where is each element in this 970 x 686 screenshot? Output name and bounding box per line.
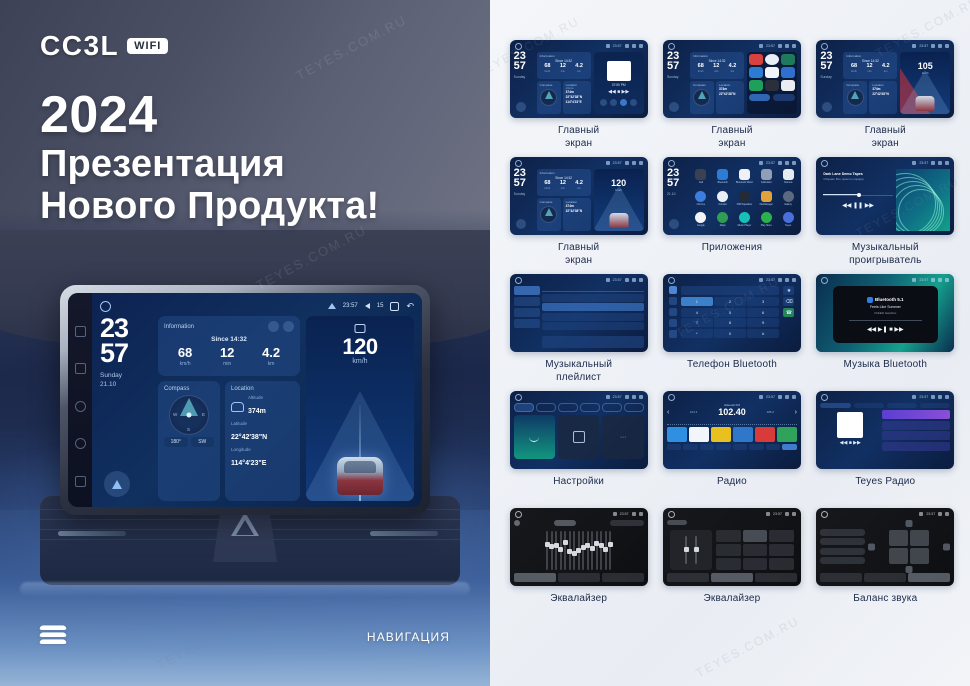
thumb-bluetooth-music[interactable]: 23:57 Bluetooth 5.1 Feels Like Summer Ch… (816, 274, 954, 352)
app-bluetooth[interactable]: Bluetooth (714, 169, 732, 188)
side-button-volume-icon[interactable] (75, 363, 86, 374)
latitude-label: Latitude (231, 421, 294, 426)
clock-widget: 23 57 Sunday 21.10 (100, 316, 152, 501)
dock-button-2[interactable] (773, 94, 795, 101)
eq-profile-icon[interactable] (514, 520, 520, 526)
back-button[interactable] (669, 219, 679, 229)
settings-tile-wifi[interactable] (514, 415, 555, 459)
dialpad-icon[interactable] (669, 286, 677, 294)
eq-preset[interactable] (769, 558, 794, 570)
bt-track-title: Feels Like Summer (870, 305, 901, 309)
playlist-category-albums[interactable] (514, 297, 540, 306)
player-artist: Сборник. Все треки по порядку (823, 177, 892, 181)
radio-tool-search[interactable] (683, 444, 698, 450)
app-contact[interactable]: Contact (714, 191, 732, 210)
thumb-home-screen-speed[interactable]: 23:57 23 57 Sunday Information (510, 157, 648, 235)
eq-band[interactable] (578, 531, 580, 570)
key-1[interactable]: 1 (681, 297, 713, 306)
playlist-track-list[interactable] (542, 286, 644, 348)
gallery-cell[interactable]: 23:57 (504, 391, 653, 502)
radio-frequency: 102.40 (718, 407, 746, 418)
gallery-cell[interactable]: 23:57 (504, 508, 653, 619)
app-chrome[interactable]: Chrome (692, 191, 710, 210)
eq-band[interactable] (546, 531, 548, 570)
dock-button-1[interactable] (749, 94, 771, 101)
gallery-caption: Эквалайзер (704, 593, 761, 619)
thumb-clock-day: Sunday (514, 75, 534, 80)
car-graphic (609, 213, 628, 228)
clock-date: 21.10 (100, 380, 152, 390)
radio-tool-settings[interactable] (766, 444, 781, 450)
eq-slider-bass[interactable] (685, 536, 687, 565)
balance-preset-rear[interactable] (820, 548, 864, 555)
stat-distance: 4.2 km (262, 346, 280, 367)
eq-band[interactable] (600, 531, 602, 570)
settings-tile-more[interactable]: ⋯ (602, 415, 643, 459)
app-icon-playstore[interactable] (749, 80, 763, 91)
bt-version-label: Bluetooth 5.1 (867, 297, 904, 303)
navigation-fab-button[interactable] (516, 219, 526, 229)
navigation-arrow-icon (112, 480, 122, 489)
music-controls[interactable]: ◀◀ ■ ▶▶ (608, 89, 629, 95)
music-actions[interactable] (600, 99, 637, 106)
teyes-station-row[interactable] (882, 431, 950, 440)
side-button-back-icon[interactable] (75, 476, 86, 487)
app-call[interactable]: Call (692, 169, 710, 188)
eq-tab-effects[interactable] (864, 573, 906, 582)
phone-number-display (681, 286, 779, 295)
screenshot-icon[interactable] (390, 302, 399, 311)
eq-band[interactable] (560, 531, 562, 570)
bt-transport-controls[interactable]: ◀◀ ▶❚ ■ ▶▶ (867, 326, 904, 333)
speed-value: 120 (594, 178, 644, 188)
home-icon (668, 277, 675, 284)
playlist-category-tracks[interactable] (514, 286, 540, 295)
radio-preset-3[interactable] (711, 427, 731, 442)
eq-preset[interactable] (743, 544, 768, 556)
eq-tab-eq[interactable] (514, 573, 556, 582)
speed-unit: km/h (900, 71, 950, 75)
screenshot-gallery-panel: TEYES.COM.RU TEYES.COM.RU TEYES.COM.RU T… (490, 0, 970, 686)
gallery-cell[interactable]: 23:57 23 57 21.10 Call Bluetooth Bluetoo… (657, 157, 806, 268)
location-card[interactable]: Location Altitude 374m (225, 381, 300, 501)
radio-preset-2[interactable] (689, 427, 709, 442)
head-unit-bezel: 23:57 15 ↶ 23 57 Sunday (60, 285, 430, 515)
eq-band[interactable] (555, 531, 557, 570)
key-hash[interactable]: # (747, 329, 779, 338)
speed-unit: km/h (594, 188, 644, 192)
presentation-slide: TEYES.COM.RU TEYES.COM.RU TEYES.COM.RU C… (0, 0, 970, 686)
thumb-bluetooth-phone[interactable]: 23:57 (663, 274, 801, 352)
album-art (837, 412, 863, 438)
more-icon: ⋯ (620, 434, 626, 441)
head-unit-side-buttons[interactable] (68, 293, 92, 507)
key-9[interactable]: 9 (747, 318, 779, 327)
key-4[interactable]: 4 (681, 308, 713, 317)
eq-preset[interactable] (769, 544, 794, 556)
information-since: Since 14:32 (164, 336, 294, 343)
settings-tabs[interactable] (514, 403, 644, 412)
brand-wifi-badge: WIFI (127, 38, 168, 54)
eq-band[interactable] (573, 531, 575, 570)
side-button-power-icon[interactable] (75, 401, 86, 412)
settings-tab-about[interactable] (624, 403, 644, 412)
eq-tab-more[interactable] (755, 573, 797, 582)
radio-preset-1[interactable] (667, 427, 687, 442)
playlist-row[interactable] (542, 322, 644, 330)
thumb-teyes-radio[interactable]: 23:57 ◀◀ ■ ▶▶ (816, 391, 954, 469)
contacts-icon[interactable] (669, 319, 677, 327)
radio-tool-loc[interactable] (749, 444, 764, 450)
app-google[interactable]: Google (692, 212, 710, 231)
headline-line2: Нового Продукта! (40, 185, 379, 228)
app-music-player[interactable]: Music Player (736, 212, 754, 231)
key-8[interactable]: 8 (714, 318, 746, 327)
key-0[interactable]: 0 (714, 329, 746, 338)
volume-icon (365, 303, 370, 309)
radio-preset-5[interactable] (755, 427, 775, 442)
eq-tab-eq[interactable] (820, 573, 862, 582)
app-camera[interactable]: Camera (779, 169, 797, 188)
compass-card-title: Compass (164, 386, 214, 392)
home-icon (515, 394, 522, 401)
information-card[interactable]: Information Since 14:32 68 (158, 316, 300, 376)
head-unit-home-screen: 23:57 15 ↶ 23 57 Sunday (92, 293, 422, 507)
gallery-cell[interactable]: 23:57 23 57 Sunday Information (504, 157, 653, 268)
gallery-caption: Приложения (702, 242, 763, 268)
playlist-now-playing-bar[interactable] (542, 336, 644, 348)
info-reset-icon[interactable] (283, 321, 294, 332)
teyes-station-row[interactable] (882, 410, 950, 419)
favorite-icon[interactable]: ★ (783, 286, 794, 295)
call-icon[interactable]: ☎ (783, 308, 794, 317)
longitude-value: 114°4'23"E (231, 460, 266, 467)
eq-band[interactable] (569, 531, 571, 570)
eq-band[interactable] (596, 531, 598, 570)
gallery-cell[interactable]: 23:57 Dark Lane Demo Tapes Сборник. Все … (811, 157, 960, 268)
home-icon (668, 160, 675, 167)
thumb-music-player[interactable]: 23:57 Dark Lane Demo Tapes Сборник. Все … (816, 157, 954, 235)
compass-heading: 180° (164, 437, 188, 447)
gallery-cell[interactable]: 23:57 (657, 508, 806, 619)
playlist-row[interactable] (542, 313, 644, 321)
eq-preset-selector[interactable] (554, 520, 576, 526)
gallery-cell[interactable]: 23:57 (811, 508, 960, 619)
radio-presets[interactable] (667, 427, 797, 442)
eq-tab-eq[interactable] (667, 573, 709, 582)
dashboard-trim (20, 582, 470, 596)
compass-center-dot (187, 413, 192, 418)
settings-tab-sound[interactable] (536, 403, 556, 412)
app-shortcut-panel[interactable] (747, 52, 797, 114)
settings-tile-traffic[interactable] (558, 415, 599, 459)
playlist-category-artists[interactable] (514, 308, 540, 317)
radio-tuning-scale[interactable] (667, 419, 797, 425)
app-icon-bluetooth[interactable] (749, 67, 763, 78)
teyes-station-row[interactable] (882, 442, 950, 451)
navigation-label: НАВИГАЦИЯ (367, 630, 450, 644)
speed-unit: km/h (306, 358, 414, 365)
bt-music-card: Bluetooth 5.1 Feels Like Summer Childish… (833, 286, 938, 342)
gallery-cell[interactable]: 23:57 Bluetooth 5.1 Feels Like Summer Ch… (811, 274, 960, 385)
gallery-caption: Главныйэкран (865, 125, 906, 151)
app-icon-contact[interactable] (765, 54, 779, 65)
eq-band[interactable] (551, 531, 553, 570)
home-icon (668, 43, 675, 50)
settings-tab-apps[interactable] (580, 403, 600, 412)
settings-icon[interactable] (669, 330, 677, 338)
wifi-icon (529, 433, 539, 442)
key-7[interactable]: 7 (681, 318, 713, 327)
gallery-cell[interactable]: 23:57 23 57 Sunday Information (657, 40, 806, 151)
key-5[interactable]: 5 (714, 308, 746, 317)
settings-tiles[interactable]: ⋯ (514, 415, 644, 459)
radio-tool-rds[interactable] (733, 444, 748, 450)
side-button-home-icon[interactable] (75, 438, 86, 449)
thumb-settings[interactable]: 23:57 (510, 391, 648, 469)
teyes-station-list[interactable] (882, 410, 950, 469)
radio-next-button[interactable]: › (795, 409, 797, 416)
eq-band[interactable] (609, 531, 611, 570)
home-icon (821, 394, 828, 401)
home-icon (821, 277, 828, 284)
compass-needle-icon (545, 91, 553, 99)
radio-prev-button[interactable]: ‹ (667, 409, 669, 416)
gallery-cell[interactable]: 23:57 23 57 Sunday Information (811, 40, 960, 151)
seat-front-left[interactable] (889, 530, 908, 546)
eq-preset-grid[interactable] (716, 530, 794, 570)
thumb-home-screen-drive[interactable]: 23:57 23 57 Sunday Information (816, 40, 954, 118)
status-time: 23:57 (343, 303, 358, 309)
home-icon (668, 394, 675, 401)
navigation-fab-button[interactable] (104, 471, 130, 497)
back-icon[interactable]: ↶ (406, 302, 414, 311)
eq-band[interactable] (564, 531, 566, 570)
home-icon (515, 277, 522, 284)
gallery-cell[interactable]: 23:57 ◀◀ ■ ▶▶ (811, 391, 960, 502)
playlist-header (542, 286, 644, 292)
latitude-value: 22°42'38"N (231, 434, 267, 441)
thumb-home-screen-apps[interactable]: 23:57 23 57 Sunday Information (663, 40, 801, 118)
gallery-cell[interactable]: 23:57 Шанхай FM ‹ 101.1 102.40 105.2 › (657, 391, 806, 502)
home-icon (515, 511, 522, 518)
app-icon-music[interactable] (765, 67, 779, 78)
home-icon[interactable] (100, 301, 111, 312)
gallery-cell[interactable]: 23:57 23 57 Sunday Information (504, 40, 653, 151)
head-unit-screen-area: 23:57 15 ↶ 23 57 Sunday (68, 293, 422, 507)
car-graphic (337, 457, 383, 495)
balance-preset-all[interactable] (820, 557, 864, 564)
radio-tool-list[interactable] (700, 444, 715, 450)
eq-tab-effects[interactable] (711, 573, 753, 582)
recents-icon[interactable] (669, 297, 677, 305)
settings-tab-wifi[interactable] (514, 403, 534, 412)
screenshot-grid: 23:57 23 57 Sunday Information (490, 0, 970, 619)
gallery-caption: Баланс звука (853, 593, 917, 619)
seat-rear-right[interactable] (910, 548, 929, 564)
side-button-mic-icon[interactable] (75, 326, 86, 337)
balance-right-button[interactable] (943, 543, 950, 550)
gallery-caption: Эквалайзер (550, 593, 607, 619)
seat-rear-left[interactable] (889, 548, 908, 564)
playlist-categories[interactable] (514, 286, 540, 348)
status-volume: 15 (377, 303, 384, 309)
key-2[interactable]: 2 (714, 297, 746, 306)
app-dsp-equalizer[interactable]: DSP Equalizer (736, 191, 754, 210)
settings-tab-display[interactable] (558, 403, 578, 412)
home-icon (821, 43, 828, 50)
thumb-home-screen-music[interactable]: 23:57 23 57 Sunday Information (510, 40, 648, 118)
eq-tab-balance[interactable] (558, 573, 600, 582)
eq-preset[interactable] (716, 558, 741, 570)
thumb-radio[interactable]: 23:57 Шанхай FM ‹ 101.1 102.40 105.2 › (663, 391, 801, 469)
navigation-fab-button[interactable] (669, 102, 679, 112)
navigation-fab-button[interactable] (516, 102, 526, 112)
traffic-usage-icon (573, 431, 585, 443)
teyes-now-playing[interactable]: ◀◀ ■ ▶▶ (820, 410, 880, 469)
backspace-icon[interactable]: ⌫ (783, 297, 794, 306)
bt-progress-bar[interactable] (849, 320, 922, 321)
home-icon (668, 511, 675, 518)
equalizer-tabs[interactable] (820, 573, 950, 582)
altitude-icon (231, 402, 244, 412)
app-calculator[interactable]: Calculator (757, 169, 775, 188)
teyes-controls[interactable]: ◀◀ ■ ▶▶ (820, 440, 880, 446)
app-icon-radio[interactable] (781, 67, 795, 78)
app-filemanager[interactable]: FileManager (757, 191, 775, 210)
clock-minutes: 57 (100, 341, 152, 366)
wifi-icon (328, 303, 336, 309)
eq-slider-treble[interactable] (695, 536, 697, 565)
app-icon-call[interactable] (749, 54, 763, 65)
gallery-caption: Главныйэкран (558, 125, 599, 151)
speed-icon (355, 324, 366, 333)
thumb-equalizer-presets[interactable]: 23:57 (663, 508, 801, 586)
app-icon-settings[interactable] (765, 80, 779, 91)
eq-band[interactable] (605, 531, 607, 570)
seat-front-right[interactable] (910, 530, 929, 546)
radio-preset-6[interactable] (777, 427, 797, 442)
balance-up-button[interactable] (905, 520, 912, 527)
headline: 2024 Презентация Нового Продукта! (40, 88, 379, 228)
compass-card[interactable]: Compass W E S 180° (158, 381, 220, 501)
hero-panel: TEYES.COM.RU TEYES.COM.RU TEYES.COM.RU C… (0, 0, 490, 686)
gallery-caption: Телефон Bluetooth (687, 359, 777, 385)
radio-toolbar[interactable] (667, 444, 797, 450)
settings-tab-system[interactable] (602, 403, 622, 412)
radio-tool-apps[interactable] (782, 444, 797, 450)
player-progress-bar[interactable] (823, 195, 892, 196)
altitude-value: 374m (248, 408, 266, 415)
equalizer-tabs[interactable] (667, 573, 797, 582)
thumb-applications[interactable]: 23:57 23 57 21.10 Call Bluetooth Bluetoo… (663, 157, 801, 235)
eq-band[interactable] (587, 531, 589, 570)
gallery-caption: Главныйэкран (711, 125, 752, 151)
playlist-category-folders[interactable] (514, 319, 540, 328)
app-icon-apps[interactable] (781, 80, 795, 91)
app-maps[interactable]: Maps (714, 212, 732, 231)
dialpad[interactable]: 1 2 3 4 5 6 7 8 9 * (681, 297, 779, 338)
teyes-top-tabs[interactable] (820, 403, 950, 408)
thumb-clock-minutes: 57 (514, 62, 534, 72)
eq-preset[interactable] (716, 530, 741, 542)
app-gallery[interactable]: Gallery (779, 191, 797, 210)
app-play-store[interactable]: Play Store (757, 212, 775, 231)
balance-down-button[interactable] (905, 566, 912, 573)
driving-panel[interactable]: 120 km/h (306, 316, 414, 501)
app-bluetooth-music[interactable]: Bluetooth Music (736, 169, 754, 188)
eq-preset[interactable] (769, 530, 794, 542)
app-icon-maps[interactable] (781, 54, 795, 65)
playlist-row[interactable] (542, 303, 644, 311)
radio-tool-eq[interactable] (716, 444, 731, 450)
balance-pad[interactable] (868, 520, 951, 573)
radio-tool-band[interactable] (667, 444, 682, 450)
balance-preset-driver[interactable] (820, 529, 864, 536)
app-teyes[interactable]: Teyes (779, 212, 797, 231)
player-info: Dark Lane Demo Tapes Сборник. Все треки … (820, 169, 895, 231)
thumb-sound-balance[interactable]: 23:57 (816, 508, 954, 586)
application-grid[interactable]: Call Bluetooth Bluetooth Music Calculato… (690, 169, 797, 231)
gallery-cell[interactable]: 23:57 (504, 274, 653, 385)
radio-prev-freq: 101.1 (690, 410, 698, 414)
equalizer-sliders[interactable] (514, 528, 644, 573)
search-icon[interactable] (669, 308, 677, 316)
info-settings-icon[interactable] (268, 321, 279, 332)
music-widget[interactable]: 07:50 PM ◀◀ ■ ▶▶ (594, 52, 644, 114)
thumb-music-playlist[interactable]: 23:57 (510, 274, 648, 352)
eq-tab-more[interactable] (602, 573, 644, 582)
car-window (344, 461, 376, 473)
car-graphic (916, 96, 935, 111)
home-icon (821, 160, 828, 167)
phone-nav-rail[interactable] (667, 286, 679, 348)
balance-seat-grid[interactable] (889, 530, 929, 564)
eq-preset[interactable] (743, 530, 768, 542)
balance-presets[interactable] (820, 520, 864, 573)
phone-actions[interactable]: ★ ⌫ ☎ (781, 286, 797, 348)
teyes-station-row[interactable] (882, 421, 950, 430)
driving-panel[interactable]: 120 km/h (594, 169, 644, 231)
eq-preset[interactable] (716, 544, 741, 556)
brand-model: CC3L (40, 32, 119, 60)
driving-panel[interactable]: 105 km/h (900, 52, 950, 114)
radio-preset-4[interactable] (733, 427, 753, 442)
player-visualizer (896, 169, 951, 231)
key-3[interactable]: 3 (747, 297, 779, 306)
eq-preset[interactable] (743, 558, 768, 570)
eq-band[interactable] (591, 531, 593, 570)
key-star[interactable]: * (681, 329, 713, 338)
compass-east: E (202, 412, 205, 417)
key-6[interactable]: 6 (747, 308, 779, 317)
player-controls[interactable]: ◀◀ ❚❚ ▶▶ (823, 202, 892, 209)
navigation-fab-button[interactable] (822, 102, 832, 112)
gallery-cell[interactable]: 23:57 (657, 274, 806, 385)
eq-dual-sliders[interactable] (670, 530, 712, 570)
playlist-row[interactable] (542, 294, 644, 302)
clock-day: Sunday (100, 371, 152, 381)
eq-band[interactable] (582, 531, 584, 570)
hazard-triangle-inner (236, 520, 254, 535)
stat-time: 12 min (220, 346, 234, 367)
eq-tab-balance[interactable] (908, 573, 950, 582)
eq-mode-buttons[interactable] (610, 520, 644, 526)
thumb-equalizer-sliders[interactable]: 23:57 (510, 508, 648, 586)
balance-left-button[interactable] (868, 543, 875, 550)
equalizer-tabs[interactable] (514, 573, 644, 582)
balance-preset-front[interactable] (820, 538, 864, 545)
